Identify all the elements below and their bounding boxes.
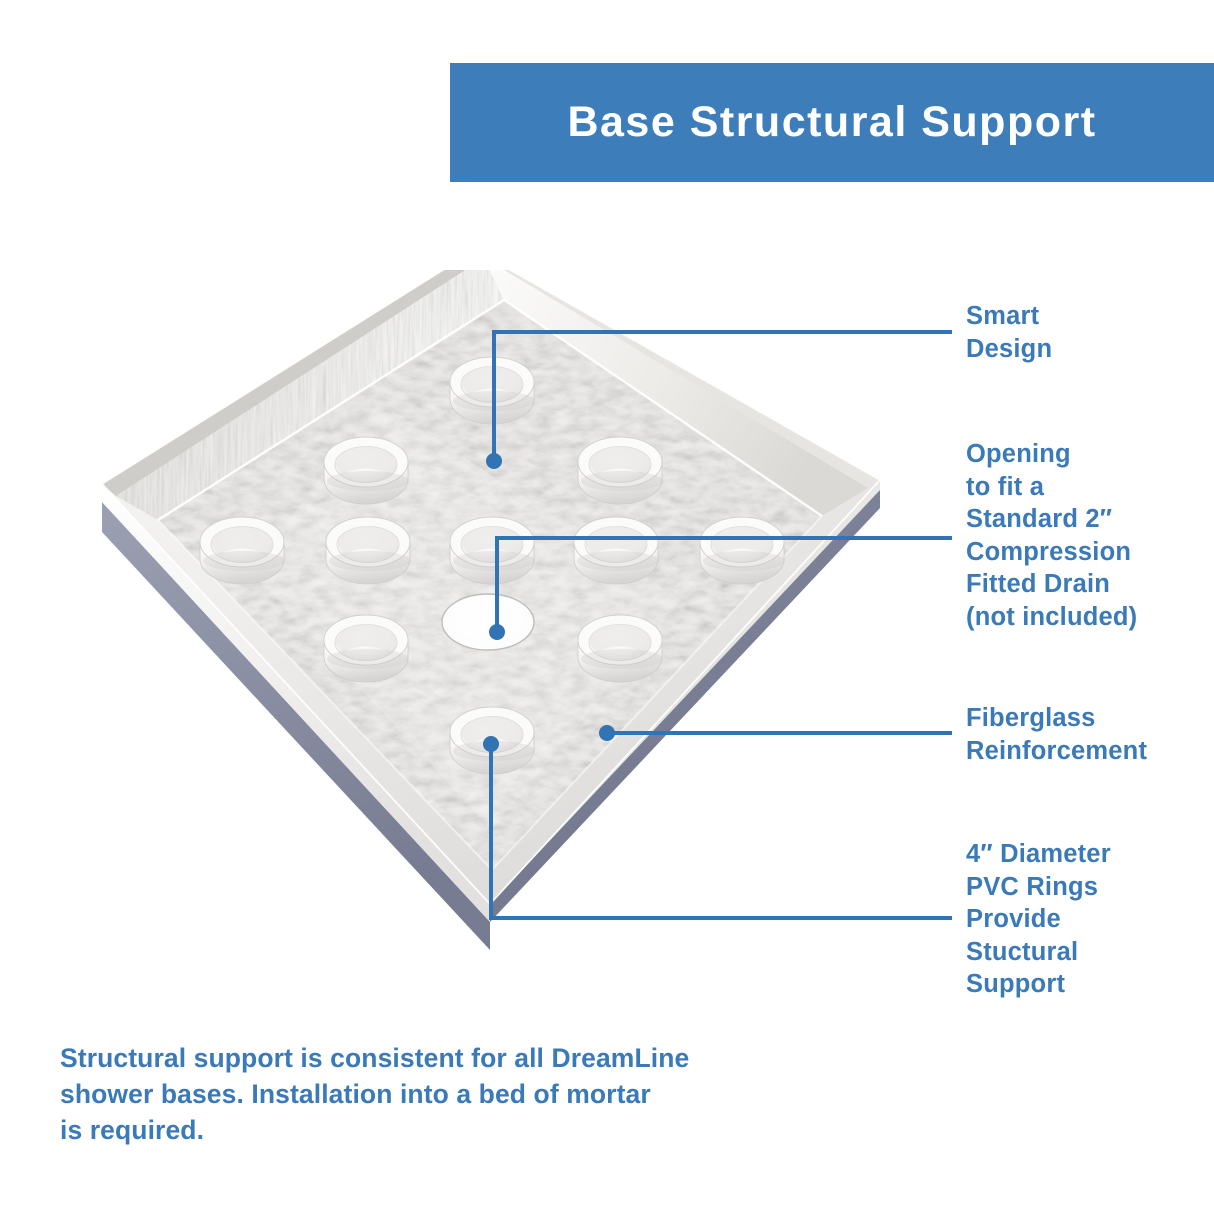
pvc-ring bbox=[200, 517, 285, 584]
callout-line: Opening bbox=[966, 438, 1198, 471]
callout-line: Reinforcement bbox=[966, 735, 1198, 768]
callout-line: PVC Rings bbox=[966, 871, 1198, 904]
caption-line: Structural support is consistent for all… bbox=[60, 1040, 820, 1076]
callout-line: 4″ Diameter bbox=[966, 838, 1198, 871]
pvc-ring bbox=[574, 517, 659, 584]
callout-line: Provide bbox=[966, 903, 1198, 936]
callout-line: Support bbox=[966, 968, 1198, 1001]
caption-line: shower bases. Installation into a bed of… bbox=[60, 1076, 820, 1112]
callout-line: (not included) bbox=[966, 601, 1198, 634]
bottom-caption: Structural support is consistent for all… bbox=[60, 1040, 820, 1148]
callout-line: Fiberglass bbox=[966, 702, 1198, 735]
pvc-ring bbox=[326, 517, 411, 584]
shower-base-graphic bbox=[80, 270, 960, 950]
callout-fiberglass: Fiberglass Reinforcement bbox=[966, 702, 1198, 767]
pvc-ring bbox=[578, 437, 663, 504]
callout-line: to fit a bbox=[966, 471, 1198, 504]
callout-line: Smart bbox=[966, 300, 1198, 333]
callout-line: Compression bbox=[966, 536, 1198, 569]
pvc-ring bbox=[450, 517, 535, 584]
page-title: Base Structural Support bbox=[567, 98, 1096, 147]
callout-line: Fitted Drain bbox=[966, 568, 1198, 601]
infographic-page: Base Structural Support bbox=[0, 0, 1214, 1214]
callout-smart-design: Smart Design bbox=[966, 300, 1198, 365]
pvc-ring bbox=[324, 437, 409, 504]
pvc-ring bbox=[324, 615, 409, 682]
callout-drain-opening: Opening to fit a Standard 2″ Compression… bbox=[966, 438, 1198, 633]
pvc-ring bbox=[450, 357, 535, 424]
pvc-ring bbox=[700, 517, 785, 584]
caption-line: is required. bbox=[60, 1112, 820, 1148]
callout-line: Design bbox=[966, 333, 1198, 366]
pvc-ring bbox=[450, 707, 535, 774]
callout-line: Standard 2″ bbox=[966, 503, 1198, 536]
callout-pvc-rings: 4″ Diameter PVC Rings Provide Stuctural … bbox=[966, 838, 1198, 1001]
pvc-ring bbox=[578, 615, 663, 682]
drain-opening bbox=[442, 594, 534, 650]
callout-line: Stuctural bbox=[966, 936, 1198, 969]
header-banner: Base Structural Support bbox=[450, 63, 1214, 182]
product-illustration bbox=[80, 270, 960, 950]
